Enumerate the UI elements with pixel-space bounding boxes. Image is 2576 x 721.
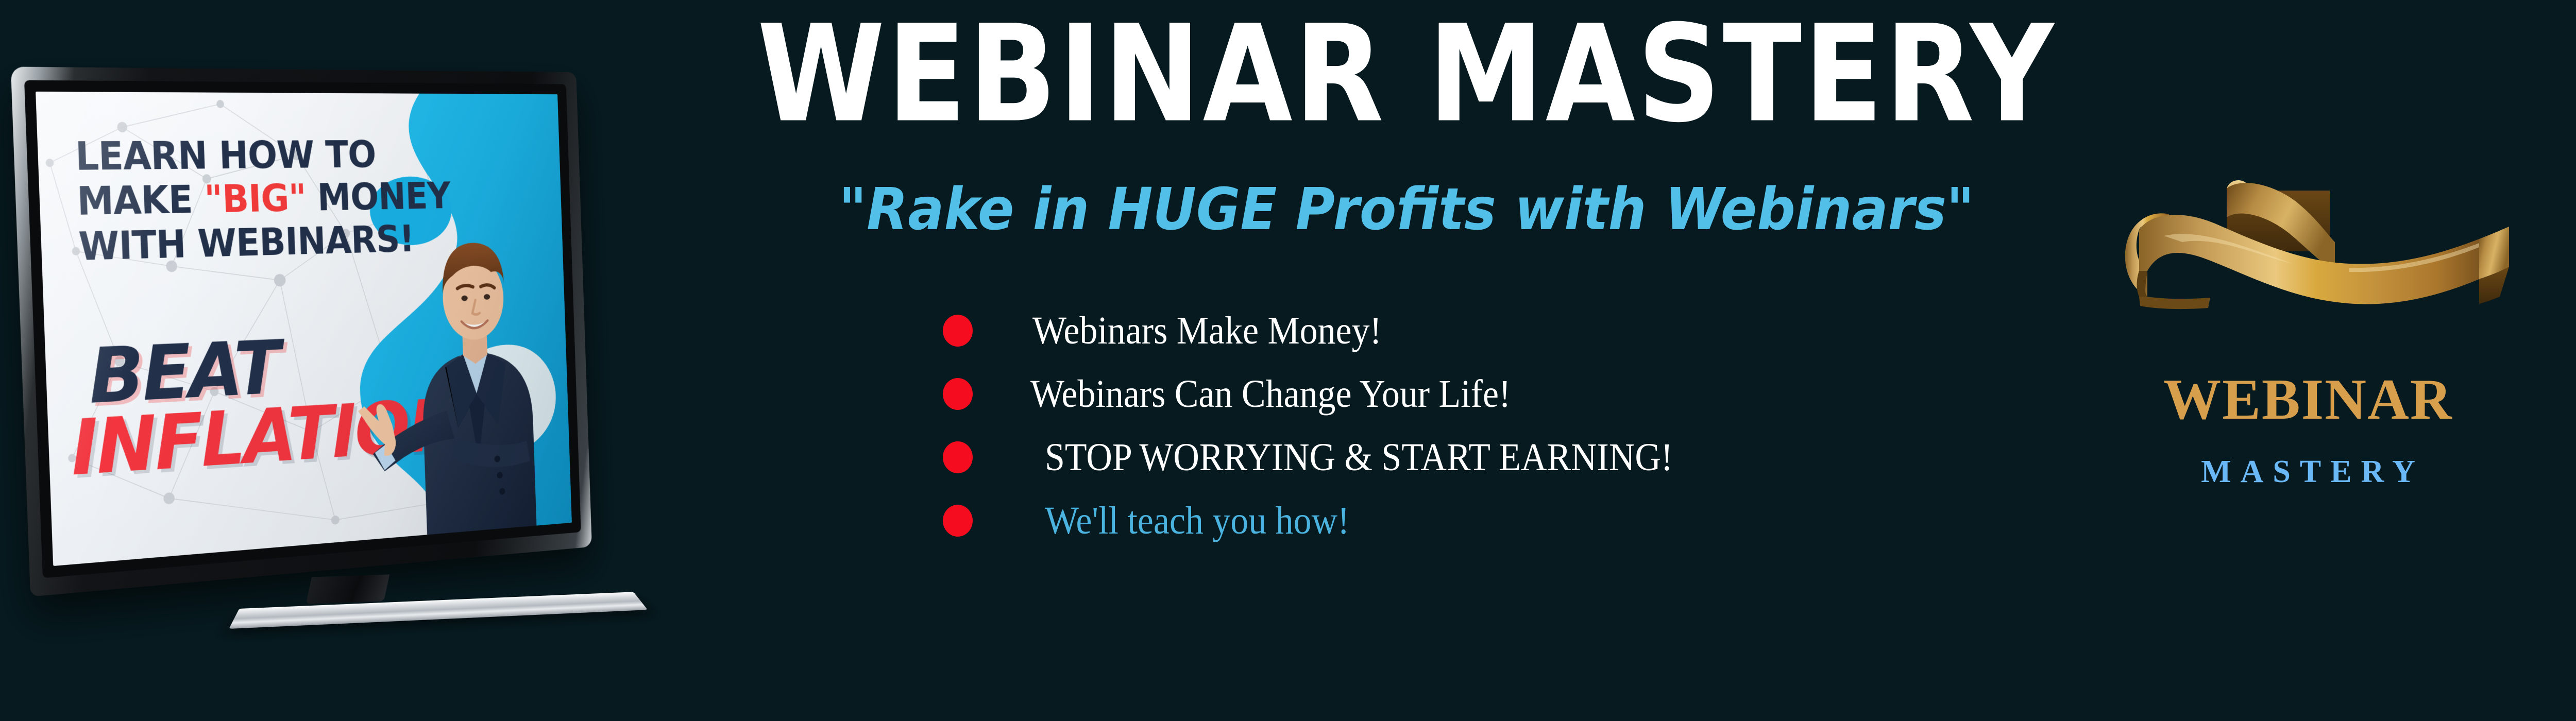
tv-promo-graphic: LEARN HOW TO MAKE "BIG" MONEY WITH WEBIN… xyxy=(0,0,721,721)
list-item-label: We'll teach you how! xyxy=(1045,501,1349,540)
tv-outer-shell: LEARN HOW TO MAKE "BIG" MONEY WITH WEBIN… xyxy=(11,66,592,596)
list-item: We'll teach you how! xyxy=(943,489,2076,552)
page-subtitle: "Rake in HUGE Profits with Webinars" xyxy=(721,180,2092,238)
list-item: Webinars Can Change Your Life! xyxy=(943,362,2076,425)
bullet-dot-icon xyxy=(943,378,973,410)
tv-line-2-highlight: "BIG" xyxy=(204,176,307,221)
tv-line-2-prefix: MAKE xyxy=(76,177,205,224)
bullet-dot-icon xyxy=(943,441,973,473)
logo-word-primary: WEBINAR xyxy=(2102,371,2514,428)
list-item-label: STOP WORRYING & START EARNING! xyxy=(1045,438,1673,477)
gold-ribbon-icon xyxy=(2107,170,2519,355)
tv-bezel: LEARN HOW TO MAKE "BIG" MONEY WITH WEBIN… xyxy=(24,80,581,578)
bullet-dot-icon xyxy=(943,315,973,347)
list-item: Webinars Make Money! xyxy=(943,299,2076,362)
tv-screen: LEARN HOW TO MAKE "BIG" MONEY WITH WEBIN… xyxy=(36,92,572,566)
list-item: STOP WORRYING & START EARNING! xyxy=(943,425,2076,489)
logo-word-secondary: MASTERY xyxy=(2102,456,2514,488)
webinar-mastery-banner: LEARN HOW TO MAKE "BIG" MONEY WITH WEBIN… xyxy=(0,0,2576,721)
tv-stand-neck xyxy=(306,574,389,604)
presenter-illustration xyxy=(344,188,571,541)
tv-stand-base xyxy=(229,592,648,629)
page-title: WEBINAR MASTERY xyxy=(742,7,2071,141)
television-frame: LEARN HOW TO MAKE "BIG" MONEY WITH WEBIN… xyxy=(11,66,592,596)
bullet-dot-icon xyxy=(943,505,973,537)
brand-logo: WEBINAR MASTERY xyxy=(2102,170,2545,541)
benefits-list: Webinars Make Money! Webinars Can Change… xyxy=(943,299,2076,552)
tv-line-1: LEARN HOW TO xyxy=(75,133,467,179)
list-item-label: Webinars Can Change Your Life! xyxy=(1030,374,1511,414)
center-content: WEBINAR MASTERY "Rake in HUGE Profits wi… xyxy=(721,0,2112,721)
list-item-label: Webinars Make Money! xyxy=(1032,311,1382,350)
